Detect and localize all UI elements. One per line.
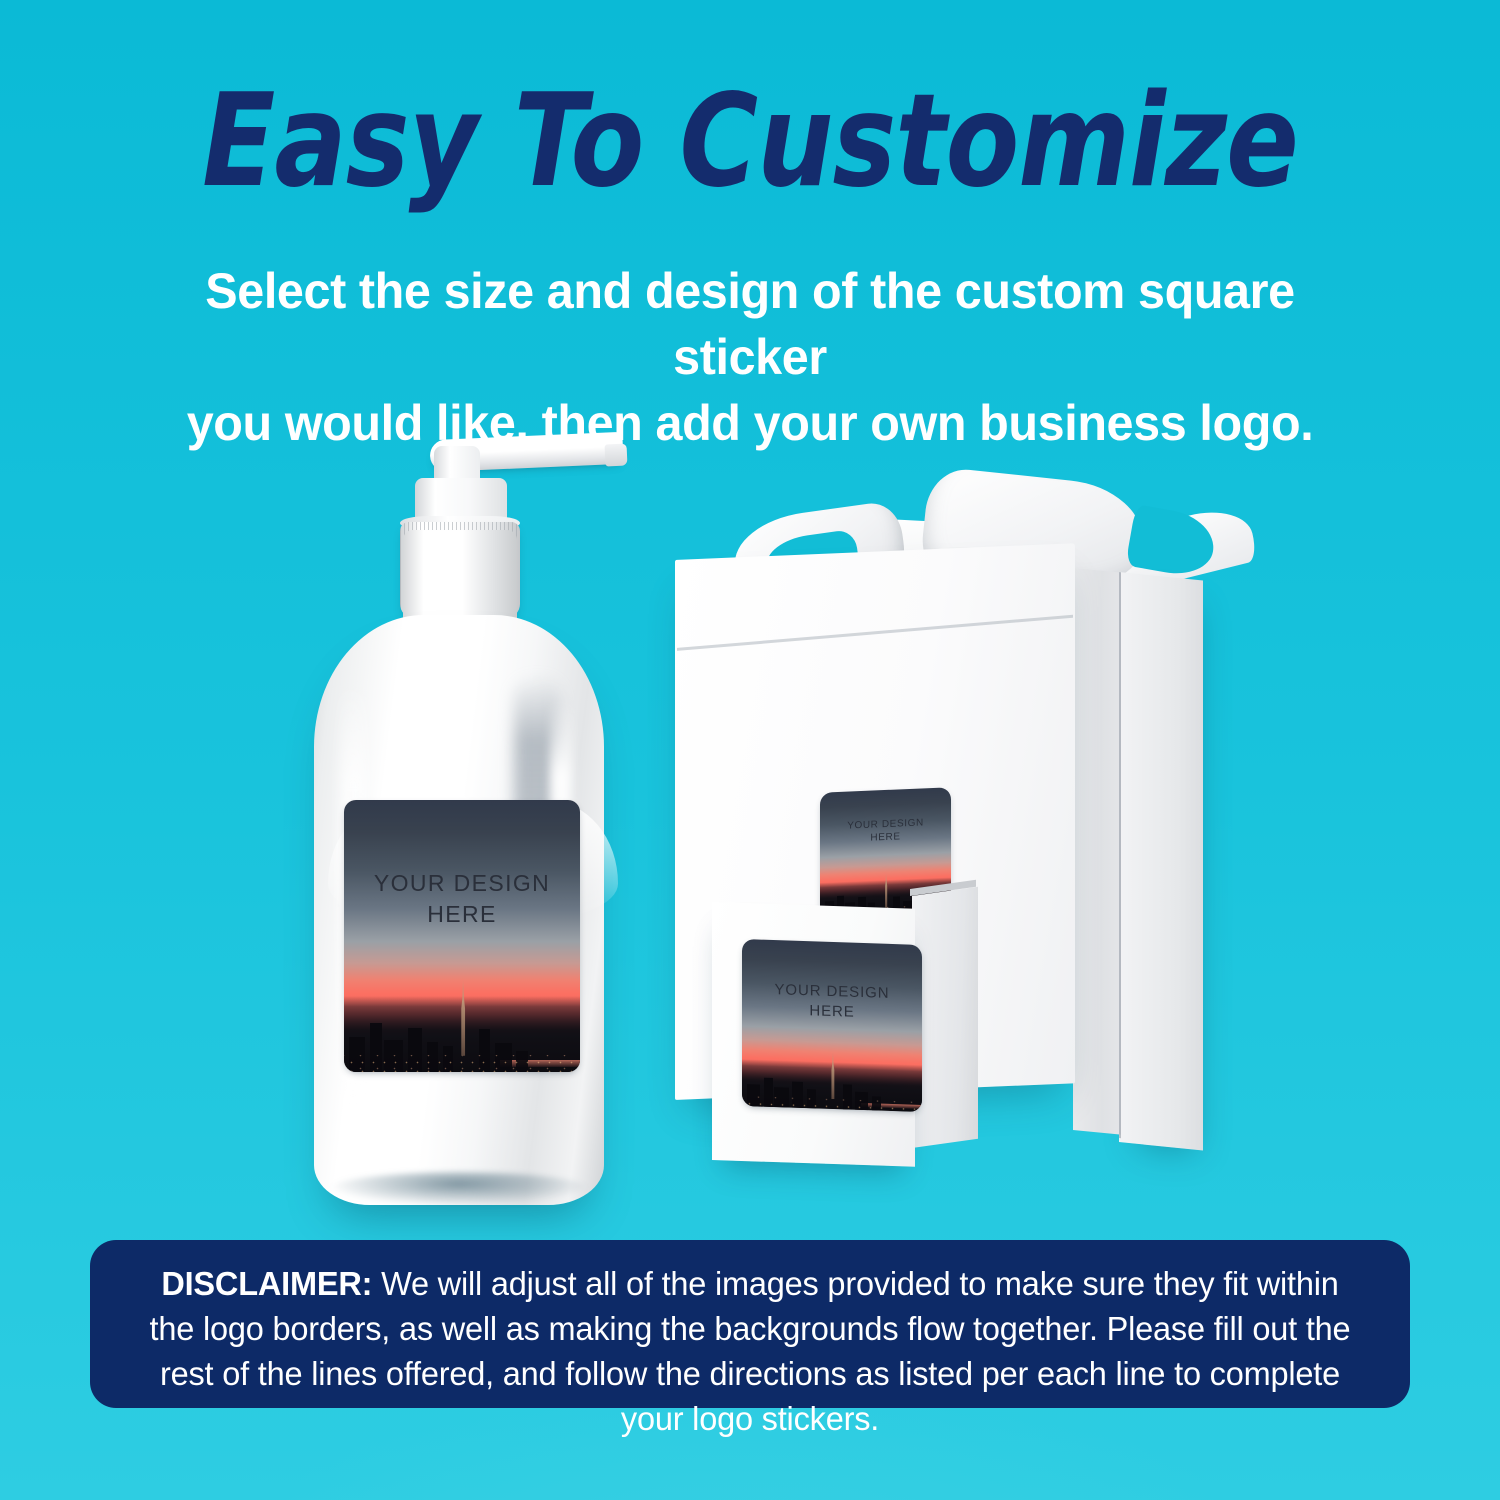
- sticker-design-line-2: HERE: [344, 899, 580, 930]
- promo-graphic: Easy To Customize Select the size and de…: [0, 0, 1500, 1500]
- sticker-design-line-1: YOUR DESIGN: [775, 981, 890, 1002]
- sticker-on-bottle: YOUR DESIGN HERE: [344, 800, 580, 1072]
- small-product-box: YOUR DESIGN HERE: [712, 892, 982, 1164]
- disclaimer-panel: DISCLAIMER: We will adjust all of the im…: [90, 1240, 1410, 1408]
- page-title: Easy To Customize: [53, 78, 1448, 206]
- gift-box-seam: [1119, 572, 1121, 1138]
- disclaimer-label: DISCLAIMER:: [161, 1265, 372, 1302]
- gift-box-lid-line: [677, 615, 1073, 651]
- product-scene: YOUR DESIGN HERE: [0, 395, 1500, 1235]
- sticker-design-line-1: YOUR DESIGN: [847, 817, 924, 831]
- subtitle-line-1: Select the size and design of the custom…: [205, 263, 1294, 385]
- sticker-design-line-2: HERE: [820, 828, 951, 847]
- sticker-design-line-2: HERE: [742, 999, 922, 1025]
- disclaimer-text: DISCLAIMER: We will adjust all of the im…: [100, 1240, 1400, 1442]
- sticker-design-line-1: YOUR DESIGN: [374, 870, 550, 896]
- gift-box-back-panel: [1119, 572, 1203, 1151]
- gift-box-side-panel: [1073, 568, 1121, 1135]
- sticker-on-small-box: YOUR DESIGN HERE: [742, 939, 922, 1112]
- lotion-bottle: YOUR DESIGN HERE: [300, 430, 620, 1230]
